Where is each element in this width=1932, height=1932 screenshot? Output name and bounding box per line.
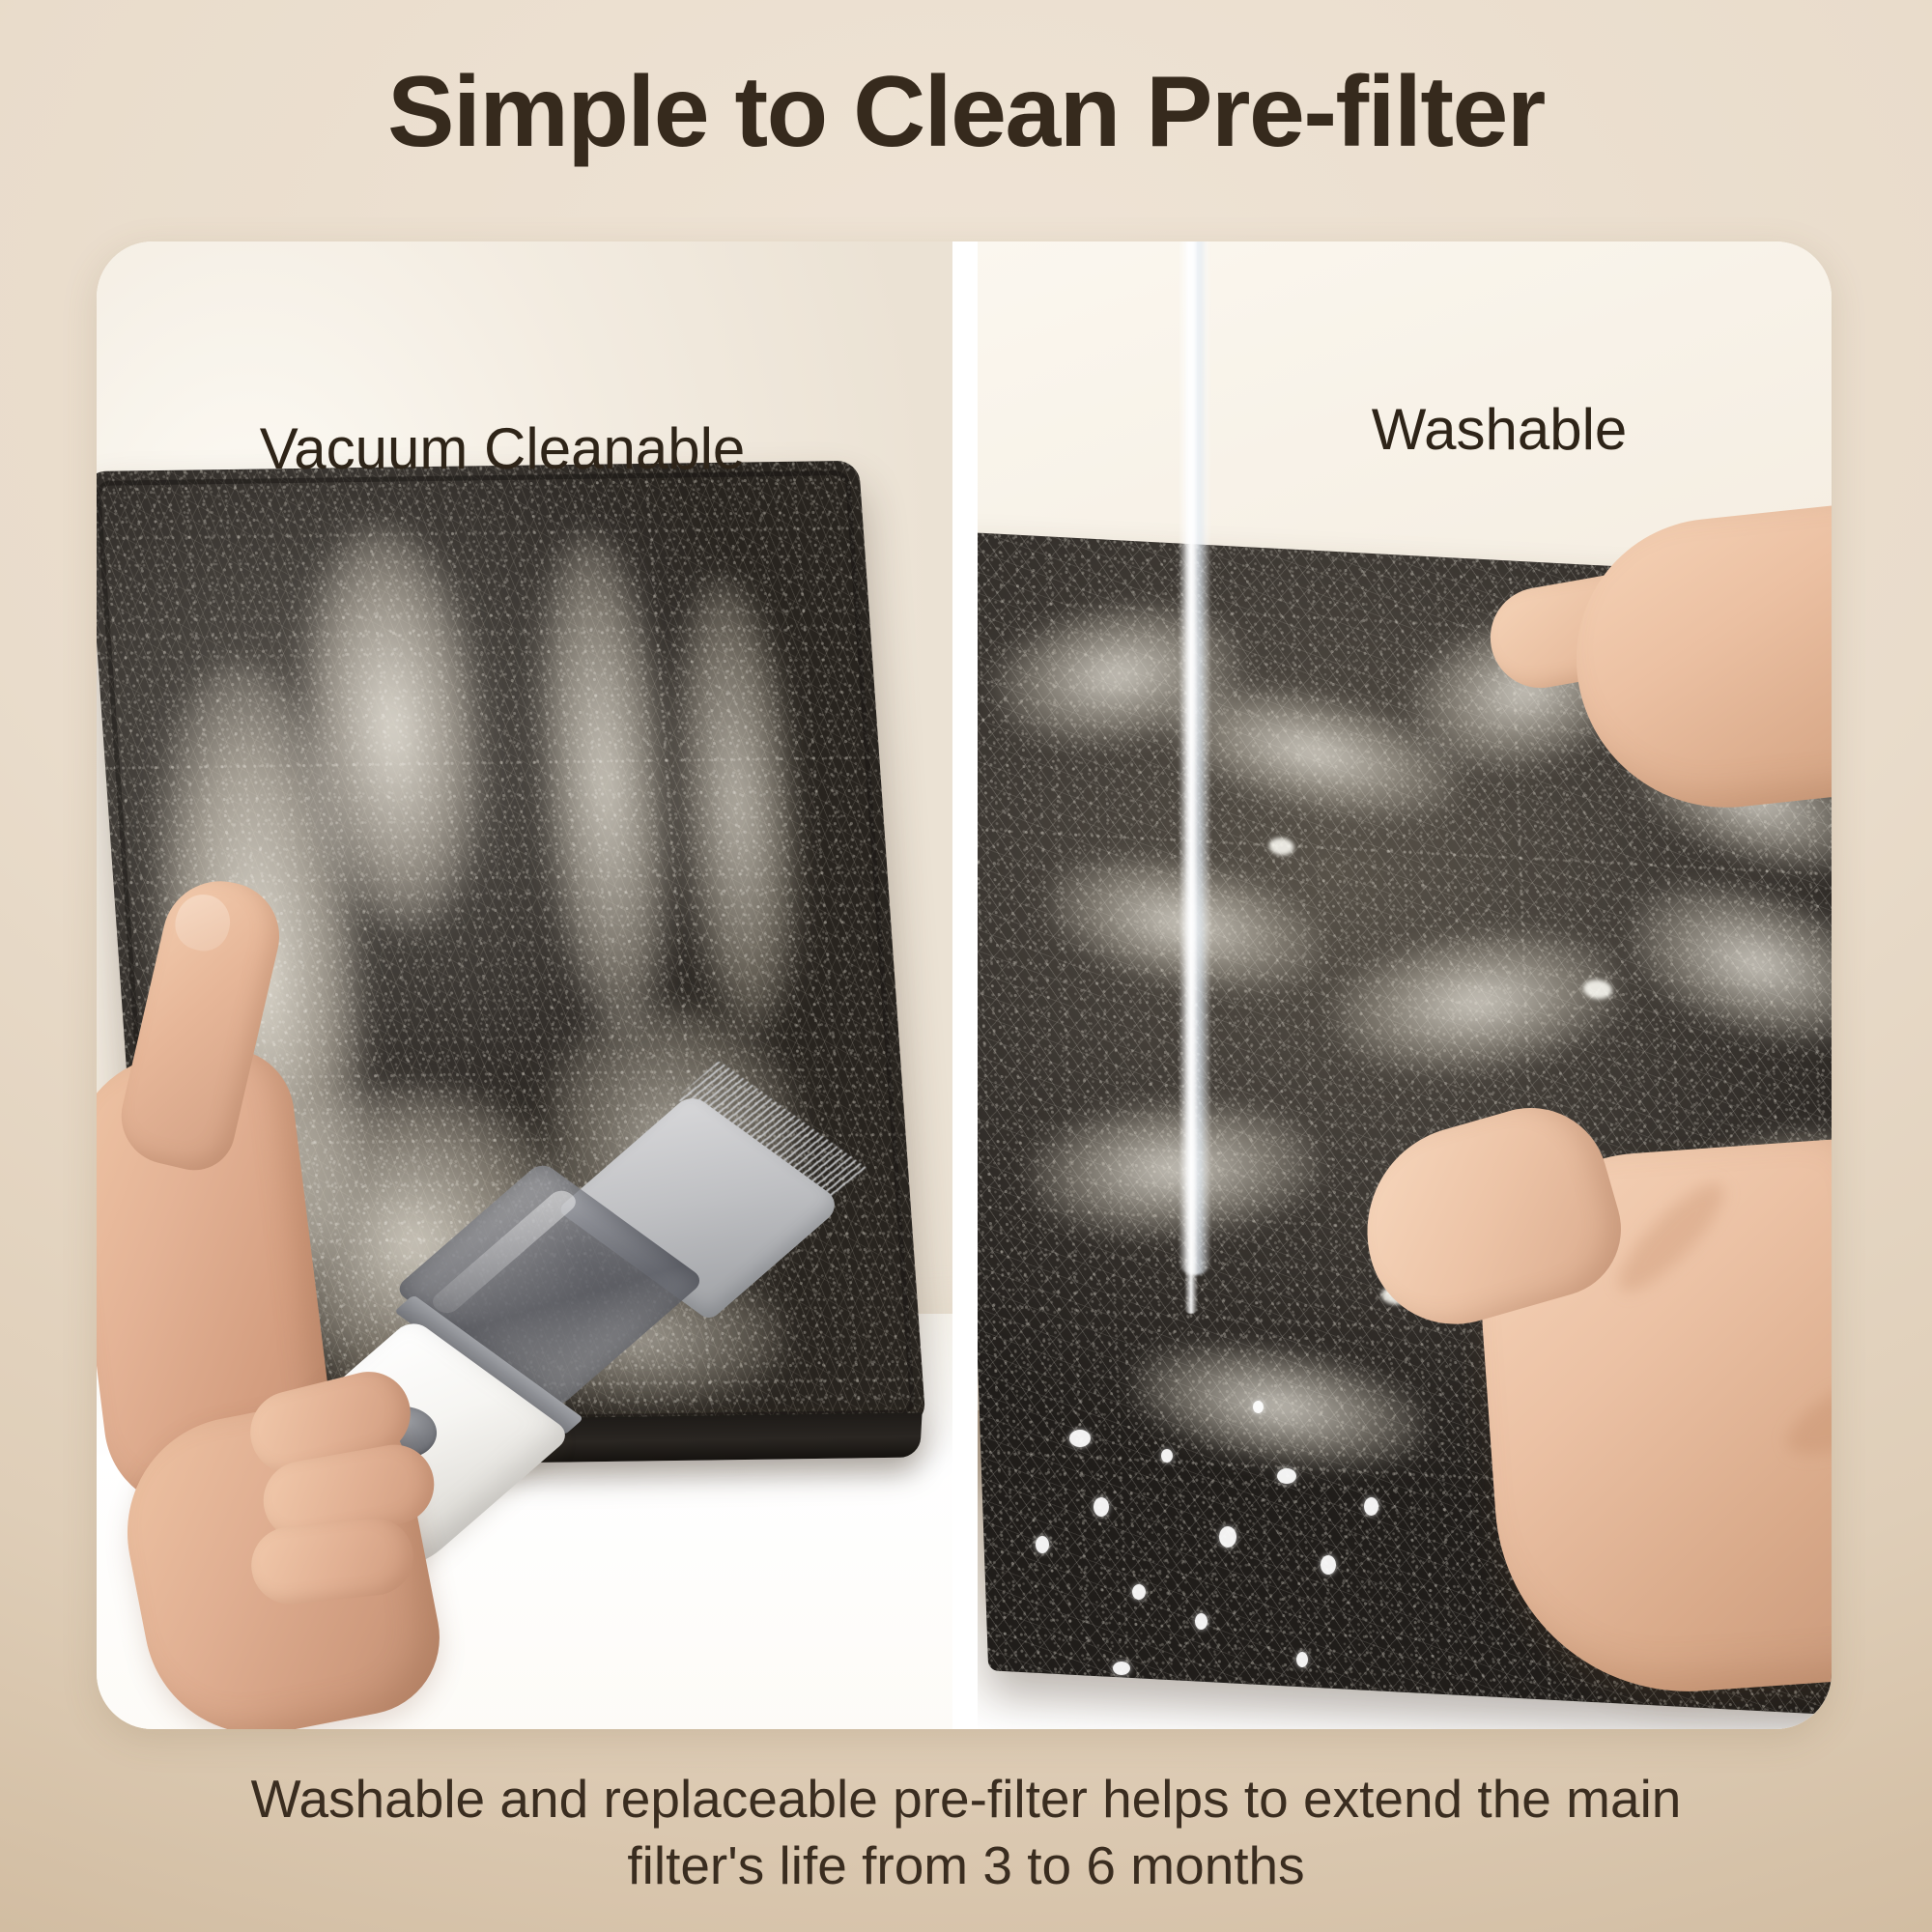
water-droplet — [1296, 1652, 1308, 1667]
water-droplet — [1253, 1401, 1264, 1413]
product-feature-poster: Simple to Clean Pre-filter — [0, 0, 1932, 1932]
knuckle-crease — [1776, 1344, 1832, 1472]
hand-gripping-vacuum — [135, 1352, 454, 1729]
water-droplet — [1069, 1430, 1091, 1447]
water-droplet — [1036, 1536, 1049, 1553]
hand-gripping-filter-top — [1461, 502, 1832, 850]
water-droplet — [1321, 1555, 1336, 1575]
water-droplet — [1195, 1613, 1207, 1630]
water-stream-highlight — [1184, 241, 1198, 1314]
panel-label-vacuum-cleanable: Vacuum Cleanable — [232, 415, 773, 482]
water-droplet — [1364, 1497, 1378, 1516]
vacuum-scene-photo: Vacuum Cleanable — [97, 241, 952, 1729]
panel-vacuum-cleanable: Vacuum Cleanable — [97, 241, 952, 1729]
water-droplet — [1113, 1662, 1130, 1675]
comparison-panels: Vacuum Cleanable — [97, 241, 1832, 1729]
caption-line-2: filter's life from 3 to 6 months — [145, 1833, 1787, 1899]
hand-palm — [1562, 492, 1832, 822]
panel-label-washable: Washable — [1296, 396, 1702, 463]
page-title: Simple to Clean Pre-filter — [0, 56, 1932, 168]
caption-line-1: Washable and replaceable pre-filter help… — [251, 1769, 1682, 1829]
water-droplet — [1219, 1526, 1236, 1548]
washing-scene-photo: Washable — [978, 241, 1832, 1729]
water-droplet — [1161, 1449, 1173, 1463]
water-droplet — [1132, 1584, 1146, 1600]
water-droplet — [1094, 1497, 1109, 1517]
caption: Washable and replaceable pre-filter help… — [145, 1766, 1787, 1900]
panel-divider — [952, 241, 978, 1729]
panel-washable: Washable — [978, 241, 1832, 1729]
hand-supporting-filter-bottom — [1364, 1092, 1832, 1729]
water-droplet — [1277, 1468, 1296, 1484]
